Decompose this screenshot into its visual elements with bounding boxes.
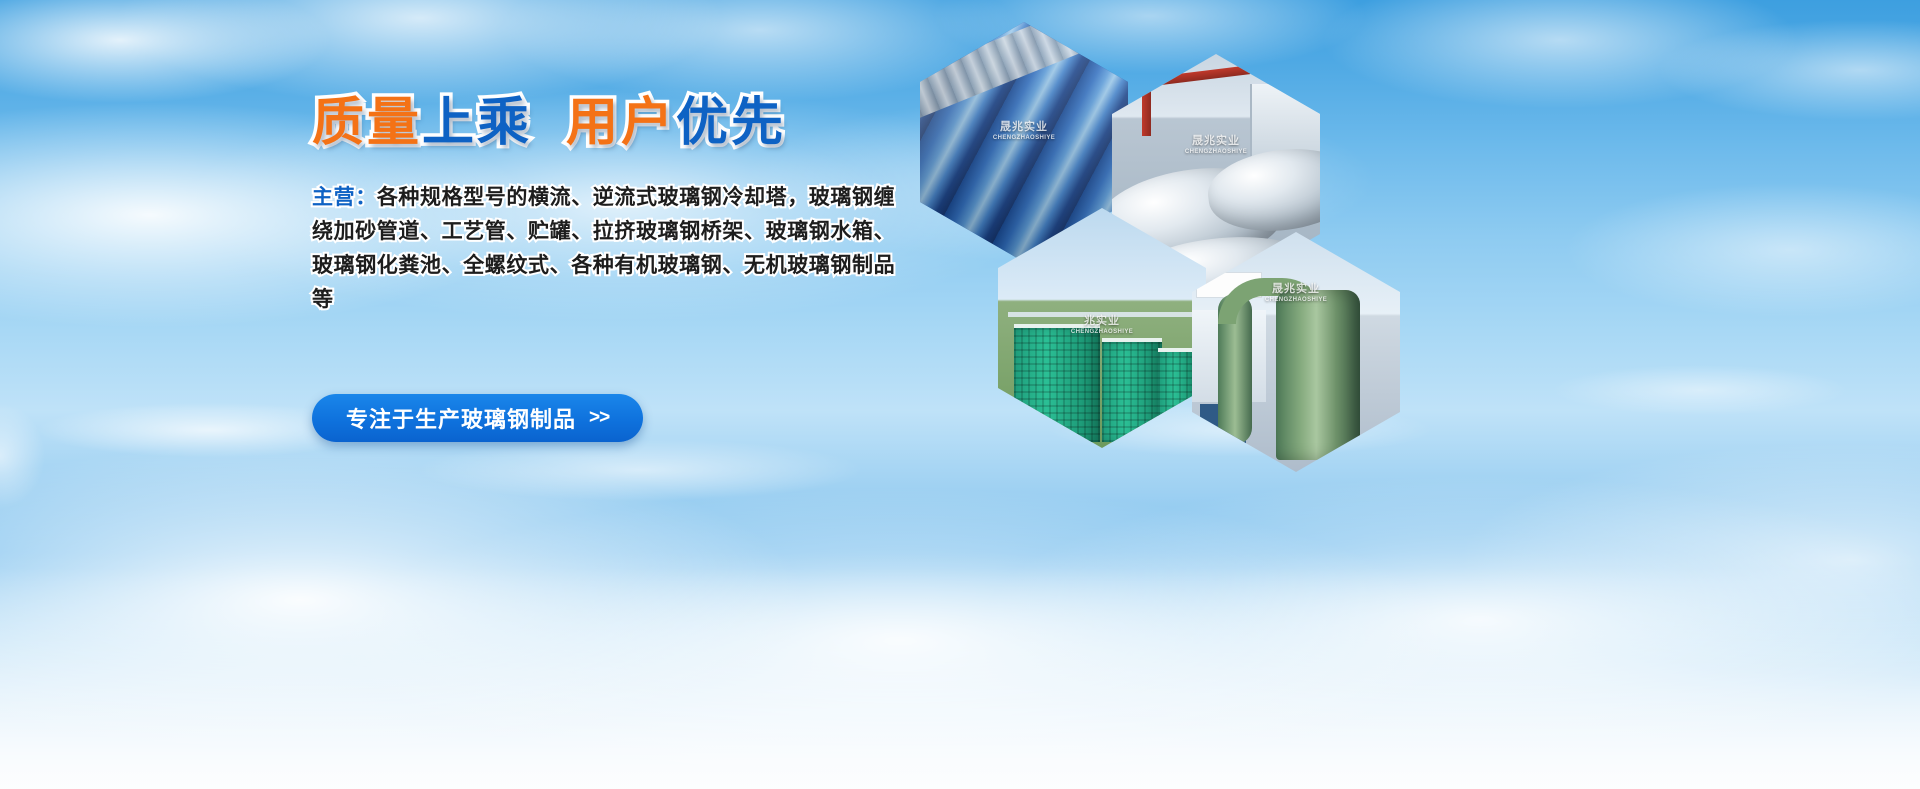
chevron-right-double-icon: >> xyxy=(589,407,609,429)
frp-scrubber-vessel-detail xyxy=(1276,290,1360,460)
watermark-brand-pinyin: CHENGZHAOSHIYE xyxy=(920,135,1128,141)
product-photo-collage: 晟兆实业 CHENGZHAOSHIYE 晟兆实业 CHENGZHAOSHIYE xyxy=(920,10,1440,420)
watermark-brand-pinyin: CHENGZHAOSHIYE xyxy=(998,329,1206,335)
cooling-tower-cell-1 xyxy=(1014,324,1100,442)
focus-on-frp-products-button[interactable]: 专注于生产玻璃钢制品 >> xyxy=(312,394,643,442)
watermark-brand: 晟兆实业 xyxy=(1112,132,1320,148)
watermark-brand: 晟兆实业 xyxy=(920,118,1128,134)
banner-copy-block: 质量上乘用户优先 主营：各种规格型号的横流、逆流式玻璃钢冷却塔，玻璃钢缠绕加砂管… xyxy=(312,96,912,317)
watermark-brand-pinyin: CHENGZHAOSHIYE xyxy=(1192,297,1400,303)
headline: 质量上乘用户优先 xyxy=(312,96,912,151)
cta-label: 专注于生产玻璃钢制品 xyxy=(346,402,576,434)
red-frame-beam-detail xyxy=(1138,65,1250,88)
promo-banner: 质量上乘用户优先 主营：各种规格型号的横流、逆流式玻璃钢冷却塔，玻璃钢缠绕加砂管… xyxy=(0,0,1920,789)
cloud-wisp-left-edge xyxy=(0,396,52,516)
cooling-tower-cell-2 xyxy=(1102,338,1162,442)
headline-segment-1: 质量 xyxy=(312,96,422,151)
product-description-body: 各种规格型号的横流、逆流式玻璃钢冷却塔，玻璃钢缠绕加砂管道、工艺管、贮罐、拉挤玻… xyxy=(312,186,895,311)
product-description: 主营：各种规格型号的横流、逆流式玻璃钢冷却塔，玻璃钢缠绕加砂管道、工艺管、贮罐、… xyxy=(312,181,912,317)
watermark-brand: 晟兆实业 xyxy=(1192,280,1400,296)
headline-segment-2: 上乘 xyxy=(422,96,532,151)
headline-segment-4: 优先 xyxy=(676,96,786,151)
watermark-brand-pinyin: CHENGZHAOSHIYE xyxy=(1112,149,1320,155)
headline-segment-3: 用户 xyxy=(566,96,676,151)
product-description-label: 主营： xyxy=(312,186,377,209)
red-frame-post-detail xyxy=(1142,74,1151,136)
watermark-brand: 兆实业 xyxy=(998,312,1206,328)
